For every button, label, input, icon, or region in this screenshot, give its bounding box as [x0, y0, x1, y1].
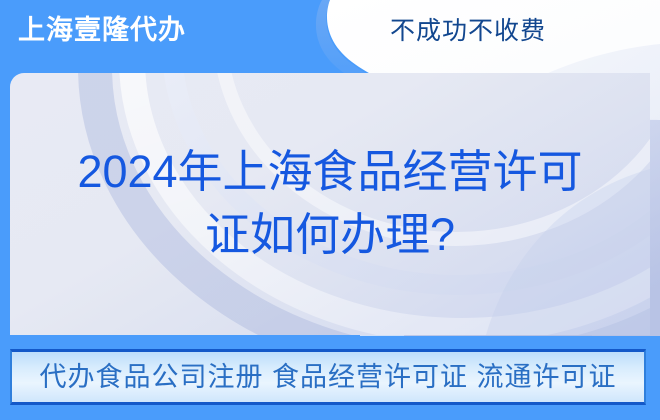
poster-canvas: 上海壹隆代办 不成功不收费 — [0, 0, 660, 420]
keyword-bar-text: 代办食品公司注册 食品经营许可证 流通许可证 — [39, 364, 616, 391]
headline-line-2: 证如何办理? — [205, 211, 455, 260]
headline-card: 2024年上海食品经营许可 证如何办理? — [10, 73, 650, 335]
keyword-bar: 代办食品公司注册 食品经营许可证 流通许可证 — [10, 349, 646, 405]
headline-block: 2024年上海食品经营许可 证如何办理? — [10, 73, 650, 335]
headline-line-1: 2024年上海食品经营许可 — [77, 148, 582, 197]
